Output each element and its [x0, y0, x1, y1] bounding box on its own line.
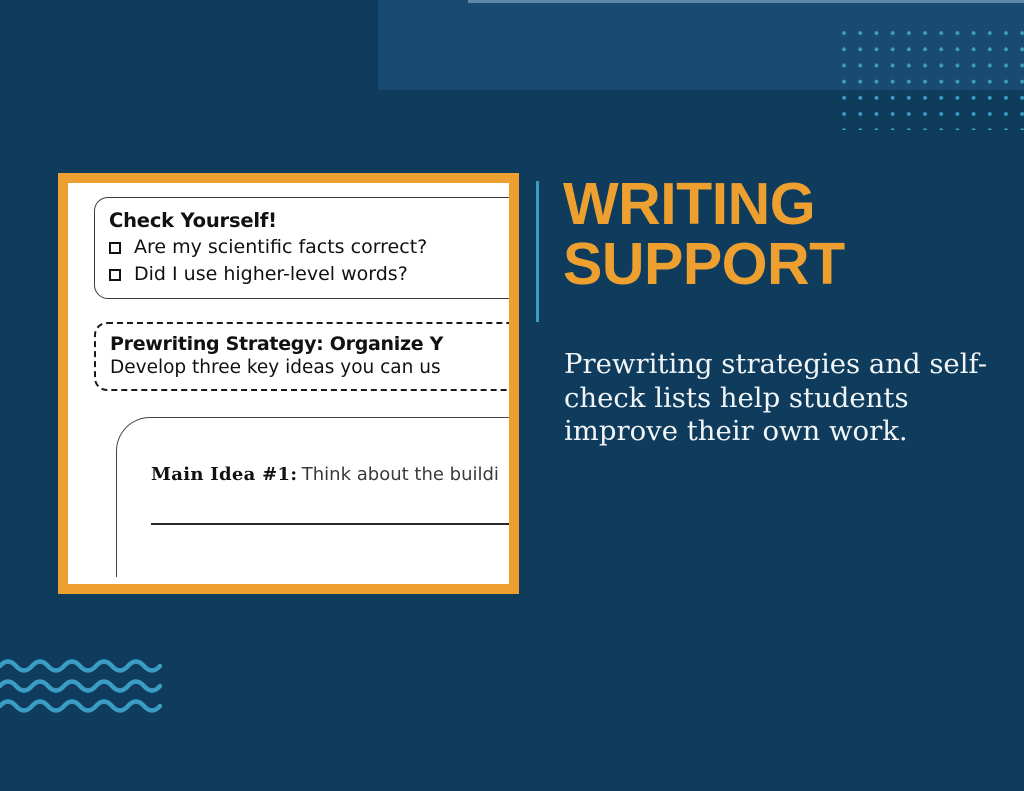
page-title-line-1: WRITING [563, 174, 1003, 234]
page-title-line-2: SUPPORT [563, 234, 1003, 294]
main-idea-line: Main Idea #1: Think about the buildi [151, 464, 499, 485]
answer-rule-line [151, 523, 509, 525]
title-accent-bar [536, 181, 539, 322]
checklist-item-label: Did I use higher-level words? [134, 263, 408, 286]
checklist-item[interactable]: Did I use higher-level words? [109, 263, 509, 286]
prewriting-strategy-subtitle: Develop three key ideas you can us [110, 357, 509, 378]
body-paragraph: Prewriting strategies and self- check li… [564, 348, 994, 449]
page-title: WRITING SUPPORT [563, 174, 1003, 294]
worksheet-content: Check Yourself! Are my scientific facts … [68, 183, 509, 584]
checkbox-icon[interactable] [109, 242, 121, 254]
checklist-item-label: Are my scientific facts correct? [134, 236, 427, 259]
dot-grid-pattern [836, 25, 1024, 130]
checklist-item[interactable]: Are my scientific facts correct? [109, 236, 509, 259]
wave-lines-decoration [0, 652, 162, 720]
worksheet-image-card[interactable]: Check Yourself! Are my scientific facts … [58, 173, 519, 594]
check-yourself-box: Check Yourself! Are my scientific facts … [94, 197, 509, 299]
worksheet-page: Check Yourself! Are my scientific facts … [68, 183, 509, 584]
main-idea-text: Think about the buildi [302, 464, 499, 485]
check-yourself-heading: Check Yourself! [109, 209, 509, 232]
slide-canvas: Check Yourself! Are my scientific facts … [0, 0, 1024, 791]
prewriting-strategy-box: Prewriting Strategy: Organize Y Develop … [94, 322, 509, 391]
main-idea-panel: Main Idea #1: Think about the buildi [116, 417, 509, 577]
prewriting-strategy-title: Prewriting Strategy: Organize Y [110, 333, 509, 355]
top-hairline [468, 0, 1024, 3]
checkbox-icon[interactable] [109, 269, 121, 281]
main-idea-label: Main Idea #1: [151, 464, 297, 485]
